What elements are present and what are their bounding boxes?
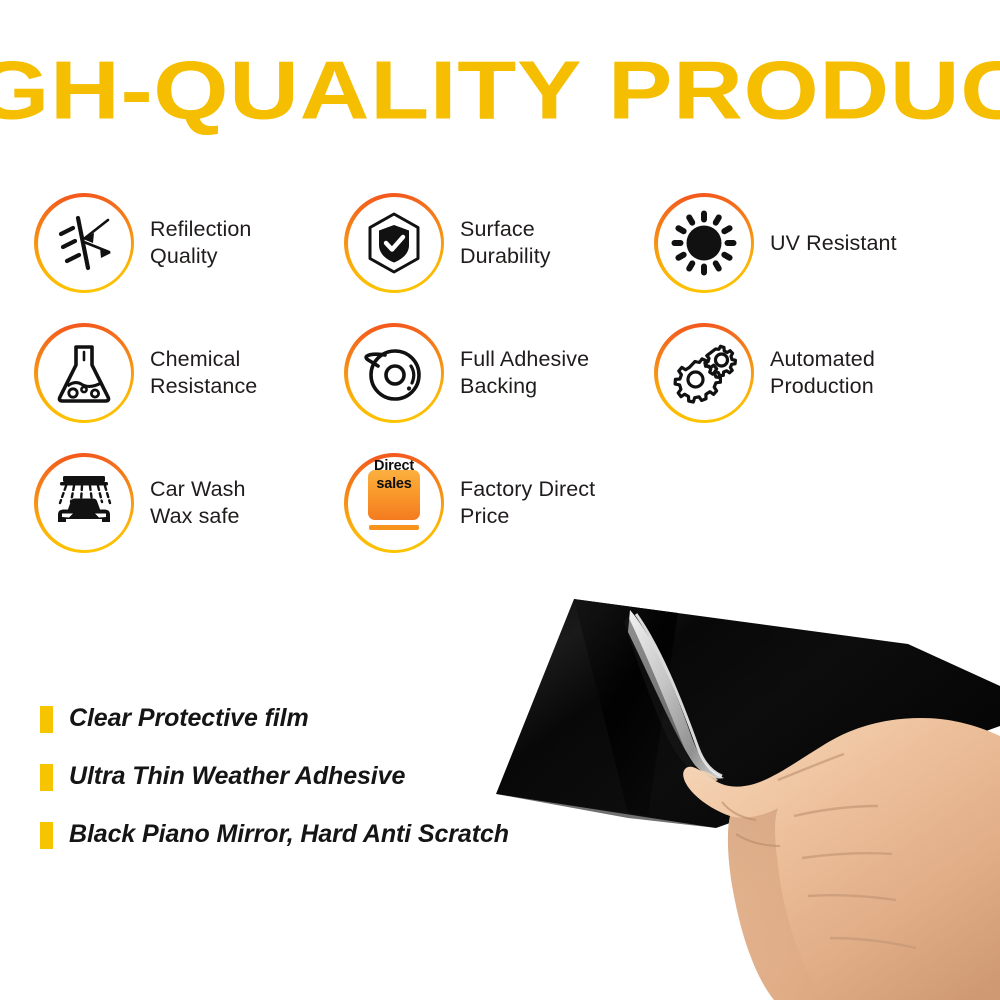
bullet-marker-icon bbox=[40, 706, 53, 733]
feature-icon-ring bbox=[654, 193, 754, 293]
flask-icon bbox=[53, 341, 115, 405]
bullet-text: Ultra Thin Weather Adhesive bbox=[69, 760, 405, 792]
feature-label: Surface Durability bbox=[460, 216, 551, 270]
direct-sales-badge-icon: Directsales bbox=[363, 470, 425, 536]
sun-icon bbox=[671, 210, 737, 276]
feature-bullet-list: Clear Protective film Ultra Thin Weather… bbox=[40, 702, 510, 876]
feature-label: Car Wash Wax safe bbox=[150, 476, 246, 530]
reflection-icon bbox=[53, 212, 115, 274]
feature-item-full-adhesive-backing: Full Adhesive Backing bbox=[344, 308, 654, 438]
feature-icon-ring bbox=[344, 323, 444, 423]
car-wash-icon bbox=[49, 472, 119, 534]
feature-icon-ring bbox=[344, 193, 444, 293]
feature-grid: Refilection Quality Surface Durability bbox=[34, 178, 984, 568]
feature-label: Factory Direct Price bbox=[460, 476, 595, 530]
feature-item-uv-resistant: UV Resistant bbox=[654, 178, 984, 308]
gears-icon bbox=[671, 341, 737, 405]
bullet-marker-icon bbox=[40, 764, 53, 791]
feature-item-car-wash: Car Wash Wax safe bbox=[34, 438, 344, 568]
page-title: HIGH-QUALITY PRODUCTS bbox=[0, 48, 1000, 132]
page-title-text: HIGH-QUALITY PRODUCTS bbox=[0, 45, 1000, 134]
bullet-text: Black Piano Mirror, Hard Anti Scratch bbox=[69, 818, 509, 850]
bullet-text: Clear Protective film bbox=[69, 702, 309, 734]
feature-item-automated-production: Automated Production bbox=[654, 308, 984, 438]
feature-icon-ring bbox=[654, 323, 754, 423]
bullet-marker-icon bbox=[40, 822, 53, 849]
badge-label-line1: Direct bbox=[374, 458, 414, 474]
feature-label: Automated Production bbox=[770, 346, 875, 400]
feature-item-factory-direct-price: Directsales Factory Direct Price bbox=[344, 438, 654, 568]
list-item: Ultra Thin Weather Adhesive bbox=[40, 760, 510, 792]
feature-icon-ring bbox=[34, 453, 134, 553]
feature-label: Refilection Quality bbox=[150, 216, 251, 270]
badge-label: Directsales bbox=[357, 458, 431, 493]
badge-underline bbox=[369, 525, 419, 530]
feature-icon-ring bbox=[34, 193, 134, 293]
tape-roll-icon bbox=[361, 342, 427, 404]
badge-box: Directsales bbox=[368, 470, 420, 520]
feature-label: UV Resistant bbox=[770, 230, 897, 257]
feature-label: Chemical Resistance bbox=[150, 346, 257, 400]
list-item: Clear Protective film bbox=[40, 702, 510, 734]
feature-icon-ring bbox=[34, 323, 134, 423]
film-peel-photo bbox=[478, 566, 1000, 1000]
feature-item-chemical-resistance: Chemical Resistance bbox=[34, 308, 344, 438]
feature-icon-ring: Directsales bbox=[344, 453, 444, 553]
badge-label-line2: sales bbox=[376, 476, 411, 492]
feature-label: Full Adhesive Backing bbox=[460, 346, 589, 400]
shield-hexagon-icon bbox=[361, 210, 427, 276]
infographic-page: HIGH-QUALITY PRODUCTS bbox=[0, 0, 1000, 1000]
feature-item-reflection-quality: Refilection Quality bbox=[34, 178, 344, 308]
feature-item-surface-durability: Surface Durability bbox=[344, 178, 654, 308]
product-photo bbox=[478, 566, 1000, 1000]
list-item: Black Piano Mirror, Hard Anti Scratch bbox=[40, 818, 510, 850]
